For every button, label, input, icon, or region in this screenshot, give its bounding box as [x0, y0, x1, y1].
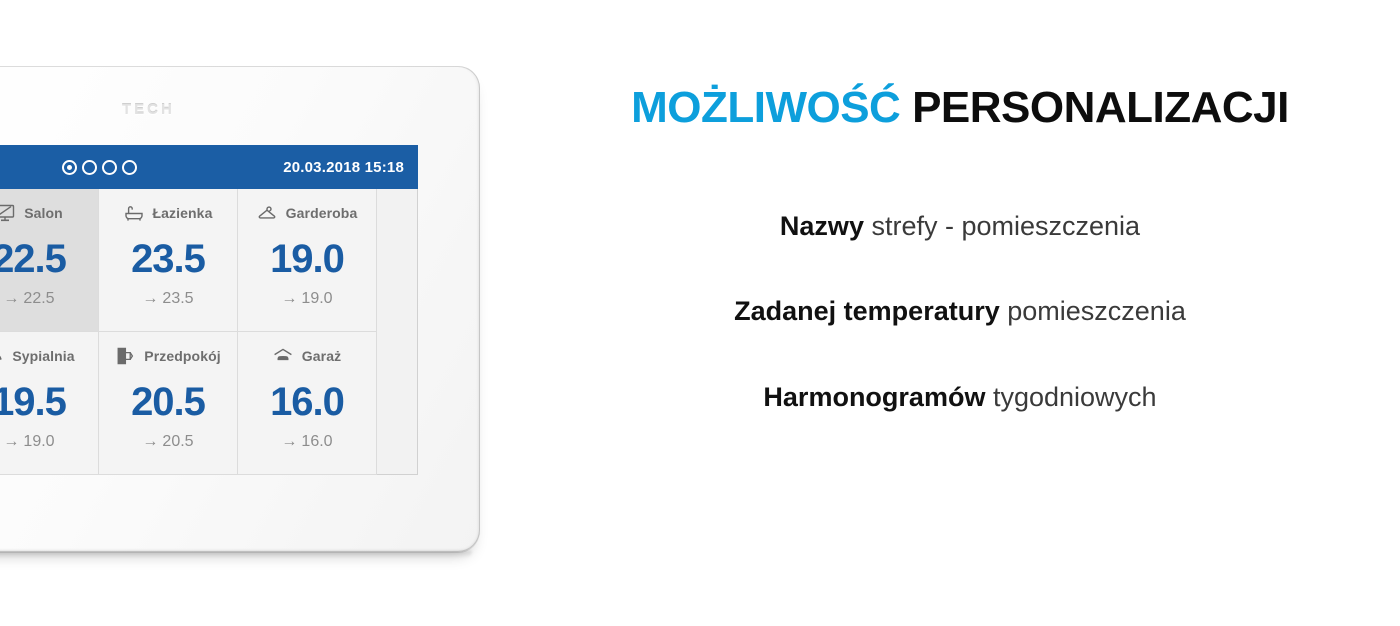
zone-grid: Salon 22.5 →22.5 [0, 189, 377, 475]
pager-dot-3[interactable] [102, 160, 117, 175]
datetime-label: 20.03.2018 15:18 [283, 159, 404, 176]
zone-target-value: 22.5 [23, 290, 54, 307]
feature-light-text: tygodniowych [993, 382, 1157, 412]
device-screen: 20.03.2018 15:18 Salon 22.5 [0, 145, 418, 475]
zone-name-label: Garaż [302, 348, 341, 364]
feature-strong-text: Harmonogramów [763, 382, 985, 412]
headline-accent-word: MOŻLIWOŚĆ [631, 83, 912, 132]
pager-dot-4[interactable] [122, 160, 137, 175]
zone-tile-garaz[interactable]: Garaż 16.0 →16.0 [238, 332, 377, 475]
zone-header: Łazienka [124, 201, 213, 225]
device-stage: TECH 20.03.2018 15:18 [0, 0, 520, 626]
garage-icon [273, 346, 293, 366]
arrow-right-icon: → [3, 433, 19, 450]
door-icon [115, 346, 135, 366]
clothes-hanger-icon [257, 203, 277, 223]
list-item: Zadanej temperatury pomieszczenia [520, 295, 1400, 327]
zone-target-value: 23.5 [162, 290, 193, 307]
zone-name-label: Łazienka [153, 205, 213, 221]
zone-current-temperature: 19.0 [270, 239, 344, 279]
page-title: MOŻLIWOŚĆ PERSONALIZACJI [520, 83, 1400, 133]
zone-header: Przedpokój [115, 344, 220, 368]
zone-target-value: 19.0 [23, 433, 54, 450]
zone-target-value: 20.5 [162, 433, 193, 450]
zone-target-temperature: →19.0 [3, 433, 54, 451]
zone-name-label: Garderoba [286, 205, 358, 221]
tv-icon [0, 203, 15, 223]
zone-target-temperature: →22.5 [3, 290, 54, 308]
feature-light-text: strefy - pomieszczenia [871, 211, 1140, 241]
device-drop-shadow [0, 551, 472, 558]
zone-current-temperature: 22.5 [0, 239, 66, 279]
feature-light-text: pomieszczenia [1007, 296, 1186, 326]
zone-current-temperature: 20.5 [131, 382, 205, 422]
arrow-right-icon: → [142, 433, 158, 450]
pager-dot-1-active[interactable] [62, 160, 77, 175]
list-item: Harmonogramów tygodniowych [520, 381, 1400, 413]
pager-dot-2[interactable] [82, 160, 97, 175]
zone-current-temperature: 19.5 [0, 382, 66, 422]
zone-tile-przedpokoj[interactable]: Przedpokój 20.5 →20.5 [99, 332, 238, 475]
zone-tile-garderoba[interactable]: Garderoba 19.0 →19.0 [238, 189, 377, 332]
zone-tile-lazienka[interactable]: Łazienka 23.5 →23.5 [99, 189, 238, 332]
arrow-right-icon: → [281, 290, 297, 307]
feature-strong-text: Zadanej temperatury [734, 296, 1000, 326]
arrow-right-icon: → [281, 433, 297, 450]
zone-tile-salon[interactable]: Salon 22.5 →22.5 [0, 189, 99, 332]
zone-header: Garaż [273, 344, 341, 368]
arrow-right-icon: → [3, 290, 19, 307]
zone-header: Sypialnia [0, 344, 75, 368]
zone-current-temperature: 16.0 [270, 382, 344, 422]
zone-tile-sypialnia[interactable]: Sypialnia 19.5 →19.0 [0, 332, 99, 475]
marketing-copy-panel: MOŻLIWOŚĆ PERSONALIZACJI Nazwy strefy - … [520, 0, 1400, 626]
pager-dots[interactable] [62, 160, 137, 175]
feature-list: Nazwy strefy - pomieszczenia Zadanej tem… [520, 210, 1400, 466]
bed-icon [0, 346, 3, 366]
bathtub-icon [124, 203, 144, 223]
tech-brand-logo: TECH [122, 101, 175, 118]
zone-header: Garderoba [257, 201, 358, 225]
feature-strong-text: Nazwy [780, 211, 864, 241]
zone-target-temperature: →23.5 [142, 290, 193, 308]
zone-target-value: 16.0 [301, 433, 332, 450]
zone-name-label: Przedpokój [144, 348, 220, 364]
screen-header-bar: 20.03.2018 15:18 [0, 145, 418, 189]
headline-dark-word: PERSONALIZACJI [912, 83, 1289, 132]
zone-current-temperature: 23.5 [131, 239, 205, 279]
zone-target-temperature: →19.0 [281, 290, 332, 308]
zone-name-label: Salon [24, 205, 63, 221]
arrow-right-icon: → [142, 290, 158, 307]
zone-target-temperature: →16.0 [281, 433, 332, 451]
zone-target-temperature: →20.5 [142, 433, 193, 451]
list-item: Nazwy strefy - pomieszczenia [520, 210, 1400, 242]
zone-name-label: Sypialnia [12, 348, 74, 364]
zone-target-value: 19.0 [301, 290, 332, 307]
zone-header: Salon [0, 201, 63, 225]
